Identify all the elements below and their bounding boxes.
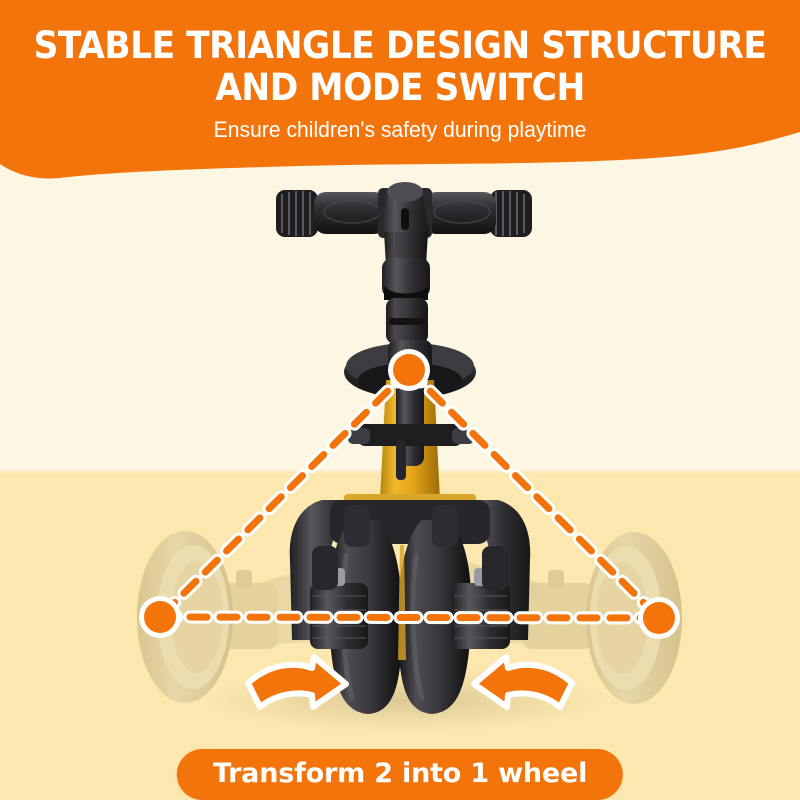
- transform-badge-label: Transform 2 into 1 wheel: [213, 758, 587, 789]
- handlebar-grip-left: [276, 190, 386, 237]
- steering-stem: [382, 232, 430, 344]
- handlebar-grip-right: [424, 190, 532, 237]
- triangle-vertex-bottom-left: [139, 596, 181, 638]
- product-feature-card: STABLE TRIANGLE DESIGN STRUCTURE AND MOD…: [0, 0, 800, 800]
- handlebar-assembly: [276, 182, 532, 238]
- transform-badge: Transform 2 into 1 wheel: [177, 749, 623, 800]
- triangle-vertex-apex: [388, 349, 430, 391]
- product-illustration: [0, 0, 800, 800]
- frame-column: [344, 380, 476, 512]
- triangle-vertex-bottom-right: [638, 597, 680, 639]
